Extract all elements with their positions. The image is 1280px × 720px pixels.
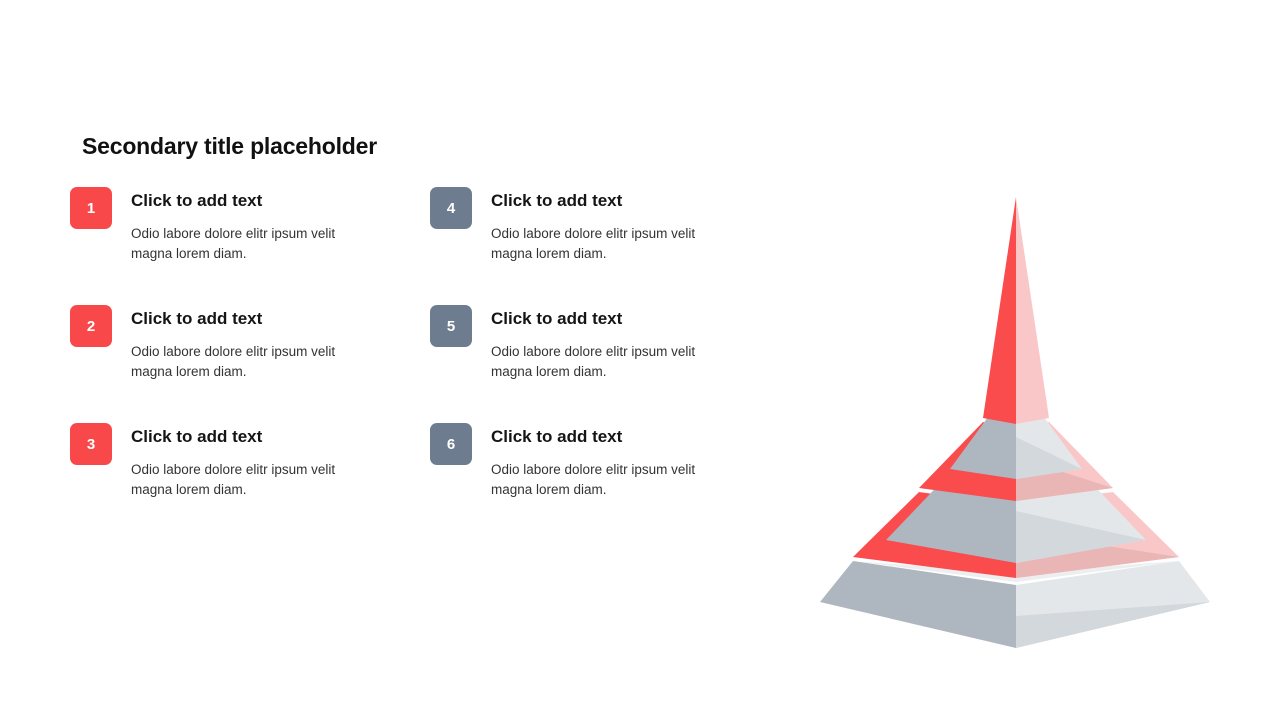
badge-label: 1 [87,200,95,217]
list-item-body: Click to add text Odio labore dolore eli… [131,304,377,382]
slide-canvas: Secondary title placeholder 1 Click to a… [0,0,1280,720]
list-item[interactable]: 1 Click to add text Odio labore dolore e… [70,186,430,264]
list-item-heading[interactable]: Click to add text [491,191,737,211]
list-item[interactable]: 3 Click to add text Odio labore dolore e… [70,422,430,500]
badge-label: 4 [447,200,455,217]
badge-number: 4 [430,187,472,229]
badge-number: 3 [70,423,112,465]
page-title: Secondary title placeholder [82,133,377,160]
list-item[interactable]: 2 Click to add text Odio labore dolore e… [70,304,430,382]
list-item-body: Click to add text Odio labore dolore eli… [491,186,737,264]
list-item-description[interactable]: Odio labore dolore elitr ipsum velit mag… [491,460,737,500]
list-item-body: Click to add text Odio labore dolore eli… [491,304,737,382]
list-item[interactable]: 5 Click to add text Odio labore dolore e… [430,304,790,382]
pyramid-final-pass [820,197,1210,648]
list-item-body: Click to add text Odio labore dolore eli… [491,422,737,500]
list-item-heading[interactable]: Click to add text [131,191,377,211]
list-item-description[interactable]: Odio labore dolore elitr ipsum velit mag… [131,224,377,264]
list-item-description[interactable]: Odio labore dolore elitr ipsum velit mag… [131,342,377,382]
list-item-description[interactable]: Odio labore dolore elitr ipsum velit mag… [131,460,377,500]
layer-1-left-face [983,197,1016,424]
bullet-row: 3 Click to add text Odio labore dolore e… [70,422,790,500]
list-item-heading[interactable]: Click to add text [131,309,377,329]
list-item-description[interactable]: Odio labore dolore elitr ipsum velit mag… [491,342,737,382]
bullet-grid: 1 Click to add text Odio labore dolore e… [70,186,790,500]
badge-number: 2 [70,305,112,347]
list-item-body: Click to add text Odio labore dolore eli… [131,422,377,500]
badge-number: 1 [70,187,112,229]
pyramid-svg [800,180,1230,670]
badge-number: 6 [430,423,472,465]
badge-label: 3 [87,436,95,453]
list-item-body: Click to add text Odio labore dolore eli… [131,186,377,264]
list-item-heading[interactable]: Click to add text [491,427,737,447]
bullet-row: 1 Click to add text Odio labore dolore e… [70,186,790,264]
list-item-heading[interactable]: Click to add text [491,309,737,329]
list-item-description[interactable]: Odio labore dolore elitr ipsum velit mag… [491,224,737,264]
bullet-row: 2 Click to add text Odio labore dolore e… [70,304,790,382]
pyramid-graphic[interactable] [800,180,1230,670]
badge-label: 6 [447,436,455,453]
list-item[interactable]: 4 Click to add text Odio labore dolore e… [430,186,790,264]
list-item-heading[interactable]: Click to add text [131,427,377,447]
badge-label: 5 [447,318,455,335]
layer-1-right-face [1016,197,1049,424]
badge-label: 2 [87,318,95,335]
list-item[interactable]: 6 Click to add text Odio labore dolore e… [430,422,790,500]
badge-number: 5 [430,305,472,347]
